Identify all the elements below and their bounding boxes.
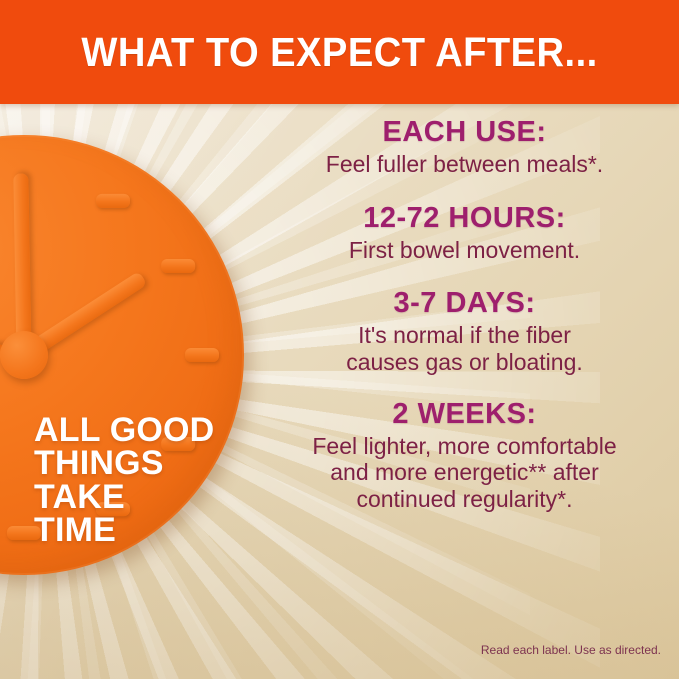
block-3-7-days-body-line-2: causes gas or bloating. [250, 349, 679, 376]
clock-center-hub [0, 331, 48, 379]
footnote-disclaimer: Read each label. Use as directed. [481, 643, 661, 657]
clock-tick-1 [96, 194, 130, 208]
block-3-7-days-body-line-1: It's normal if the fiber [250, 322, 679, 349]
block-each-use-body: Feel fuller between meals*. [250, 151, 679, 178]
poster-root: WHAT TO EXPECT AFTER... ALL GOOD THINGS … [0, 0, 679, 679]
block-2-weeks-body-line-1: Feel lighter, more comfortable [250, 433, 679, 460]
block-2-weeks-body-line-2: and more energetic** after [250, 459, 679, 486]
page-title: WHAT TO EXPECT AFTER... [81, 29, 597, 76]
block-3-7-days: 3-7 DAYS: It's normal if the fiber cause… [250, 287, 679, 375]
block-12-72-hours: 12-72 HOURS: First bowel movement. [250, 202, 679, 264]
clock-caption: ALL GOOD THINGS TAKE TIME [34, 414, 274, 547]
block-each-use: EACH USE: Feel fuller between meals*. [250, 116, 679, 178]
block-each-use-heading: EACH USE: [250, 116, 679, 149]
block-2-weeks-heading: 2 WEEKS: [250, 398, 679, 431]
clock-tick-3 [185, 348, 219, 362]
block-12-72-hours-heading: 12-72 HOURS: [250, 202, 679, 235]
clock-caption-line-1: ALL GOOD [34, 414, 274, 447]
clock-caption-line-3: TAKE [34, 481, 274, 514]
block-2-weeks-body-line-3: continued regularity*. [250, 486, 679, 513]
clock-caption-line-2: THINGS [34, 447, 274, 480]
block-12-72-hours-body: First bowel movement. [250, 237, 679, 264]
clock-tick-2 [161, 259, 195, 273]
block-3-7-days-heading: 3-7 DAYS: [250, 287, 679, 320]
clock-caption-line-4: TIME [34, 514, 274, 547]
expectation-list: EACH USE: Feel fuller between meals*. 12… [250, 104, 679, 679]
block-2-weeks: 2 WEEKS: Feel lighter, more comfortable … [250, 398, 679, 513]
header-banner: WHAT TO EXPECT AFTER... [0, 0, 679, 104]
